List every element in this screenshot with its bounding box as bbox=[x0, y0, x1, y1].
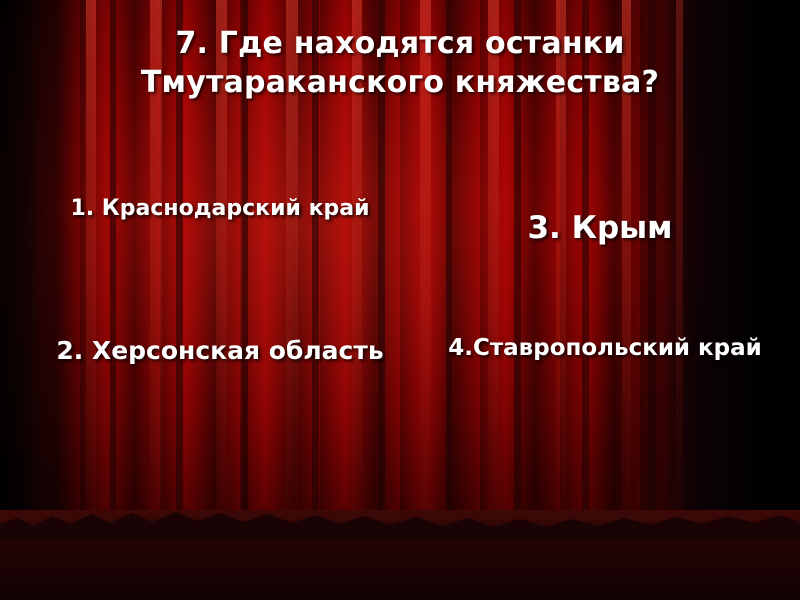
page-title-line-1: 7. Где находятся останки bbox=[60, 24, 740, 63]
answer-option-3[interactable]: 3. Крым bbox=[420, 210, 780, 248]
answer-option-4[interactable]: 4.Ставропольский край bbox=[420, 334, 790, 362]
slide: 7. Где находятся останки Тмутараканского… bbox=[0, 0, 800, 600]
page-title: 7. Где находятся останки Тмутараканского… bbox=[60, 24, 740, 102]
page-title-line-2: Тмутараканского княжества? bbox=[60, 63, 740, 102]
answer-option-1[interactable]: 1. Краснодарский край bbox=[40, 196, 400, 223]
curtain-bottom-edge bbox=[0, 504, 800, 540]
answer-option-2[interactable]: 2. Херсонская область bbox=[40, 336, 400, 367]
